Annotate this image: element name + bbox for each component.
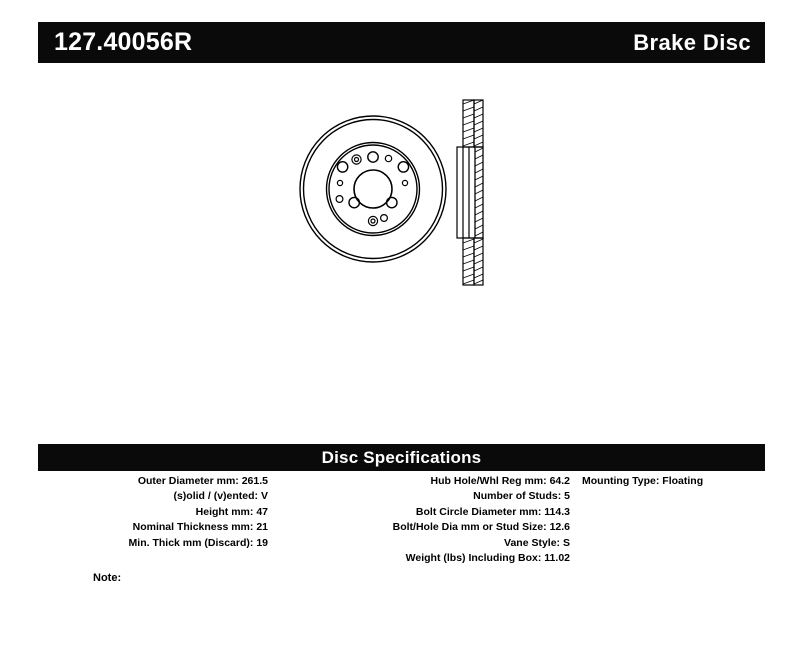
spec-value: S bbox=[563, 537, 570, 549]
spec-label: Vane Style: bbox=[504, 537, 560, 549]
lug-stud-hole-group bbox=[337, 152, 408, 208]
spec-value: 64.2 bbox=[550, 475, 570, 487]
spec-value: V bbox=[261, 490, 268, 502]
part-number: 127.40056R bbox=[54, 30, 192, 55]
spec-label: Height mm: bbox=[196, 506, 254, 518]
spec-row: Bolt Circle Diameter mm: 114.3 bbox=[270, 505, 570, 520]
spec-value: 5 bbox=[564, 490, 570, 502]
spec-row: Height mm: 47 bbox=[38, 505, 268, 520]
spec-value: 47 bbox=[256, 506, 268, 518]
spec-column-right: Mounting Type: Floating bbox=[572, 474, 765, 489]
rotor-outer-edge-circle bbox=[300, 116, 446, 262]
spec-label: Nominal Thickness mm: bbox=[133, 521, 254, 533]
spec-label: Number of Studs: bbox=[473, 490, 561, 502]
cross-section-group bbox=[457, 100, 483, 285]
specifications-area: Outer Diameter mm: 261.5 (s)olid / (v)en… bbox=[38, 474, 765, 584]
spec-column-left: Outer Diameter mm: 261.5 (s)olid / (v)en… bbox=[38, 474, 268, 551]
spec-row: (s)olid / (v)ented: V bbox=[38, 489, 268, 504]
spec-label: Mounting Type: bbox=[582, 475, 659, 487]
product-type: Brake Disc bbox=[633, 32, 751, 54]
spec-row: Bolt/Hole Dia mm or Stud Size: 12.6 bbox=[270, 520, 570, 535]
spec-label: Outer Diameter mm: bbox=[138, 475, 239, 487]
spec-label: Bolt/Hole Dia mm or Stud Size: bbox=[393, 521, 547, 533]
spec-row: Min. Thick mm (Discard): 19 bbox=[38, 536, 268, 551]
note-value bbox=[121, 572, 125, 584]
spec-column-middle: Hub Hole/Whl Reg mm: 64.2 Number of Stud… bbox=[270, 474, 570, 566]
spec-label: Weight (lbs) Including Box: bbox=[406, 552, 542, 564]
spec-row: Mounting Type: Floating bbox=[572, 474, 765, 489]
rotor-outer-edge-inner-circle bbox=[304, 120, 443, 259]
spec-label: (s)olid / (v)ented: bbox=[173, 490, 258, 502]
spec-label: Hub Hole/Whl Reg mm: bbox=[431, 475, 547, 487]
disc-specifications-title: Disc Specifications bbox=[322, 449, 482, 466]
rotor-hat-outer-circle bbox=[329, 145, 417, 233]
spec-row: Hub Hole/Whl Reg mm: 64.2 bbox=[270, 474, 570, 489]
product-illustration bbox=[285, 88, 525, 298]
spec-value: 21 bbox=[256, 521, 268, 533]
spec-row: Number of Studs: 5 bbox=[270, 489, 570, 504]
note-label: Note: bbox=[93, 572, 121, 584]
rotor-friction-ring-circle bbox=[327, 143, 420, 236]
spec-row: Outer Diameter mm: 261.5 bbox=[38, 474, 268, 489]
spec-label: Bolt Circle Diameter mm: bbox=[416, 506, 541, 518]
note-block: Note: bbox=[93, 571, 125, 586]
spec-value: 261.5 bbox=[242, 475, 268, 487]
alignment-hole-group bbox=[336, 155, 408, 226]
spec-value: 11.02 bbox=[544, 552, 570, 564]
spec-value: Floating bbox=[662, 475, 703, 487]
spec-value: 114.3 bbox=[544, 506, 570, 518]
spec-row: Vane Style: S bbox=[270, 536, 570, 551]
spec-value: 12.6 bbox=[550, 521, 570, 533]
spec-row: Nominal Thickness mm: 21 bbox=[38, 520, 268, 535]
spec-value: 19 bbox=[256, 537, 268, 549]
spec-label: Min. Thick mm (Discard): bbox=[129, 537, 254, 549]
spec-row: Weight (lbs) Including Box: 11.02 bbox=[270, 551, 570, 566]
document-header-bar: 127.40056R Brake Disc bbox=[38, 22, 765, 63]
disc-specifications-bar: Disc Specifications bbox=[38, 444, 765, 471]
